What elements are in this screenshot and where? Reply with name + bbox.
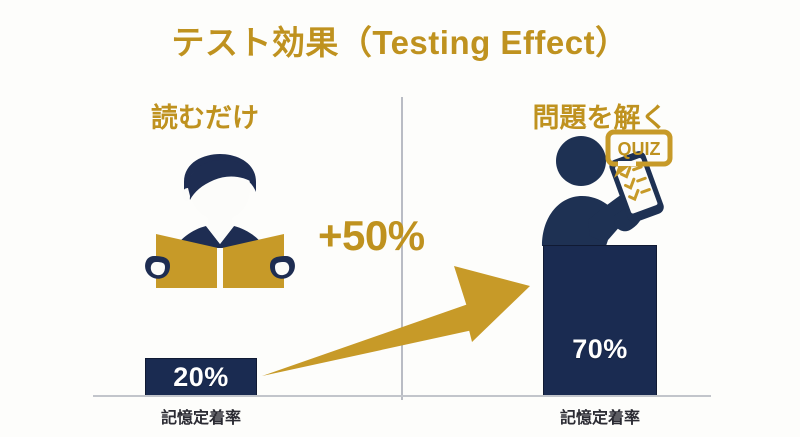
- bar-left-value: 20%: [173, 362, 229, 393]
- bar-right-value: 70%: [572, 334, 628, 365]
- page-title: テスト効果（Testing Effect）: [0, 16, 800, 64]
- bar-right-retention: 70%: [543, 245, 657, 396]
- quiz-bubble-text: QUIZ: [618, 139, 661, 159]
- person-with-quiz-phone-icon: QUIZ: [528, 128, 688, 253]
- bar-right-caption: 記憶定着率: [475, 404, 725, 428]
- growth-arrow-icon: [258, 248, 538, 393]
- slide-canvas: テスト効果（Testing Effect） 読むだけ: [0, 0, 800, 437]
- bar-left-caption: 記憶定着率: [76, 404, 326, 428]
- left-panel-heading: 読むだけ: [80, 96, 330, 135]
- bar-left-retention: 20%: [145, 358, 257, 396]
- baseline-axis: [93, 395, 711, 397]
